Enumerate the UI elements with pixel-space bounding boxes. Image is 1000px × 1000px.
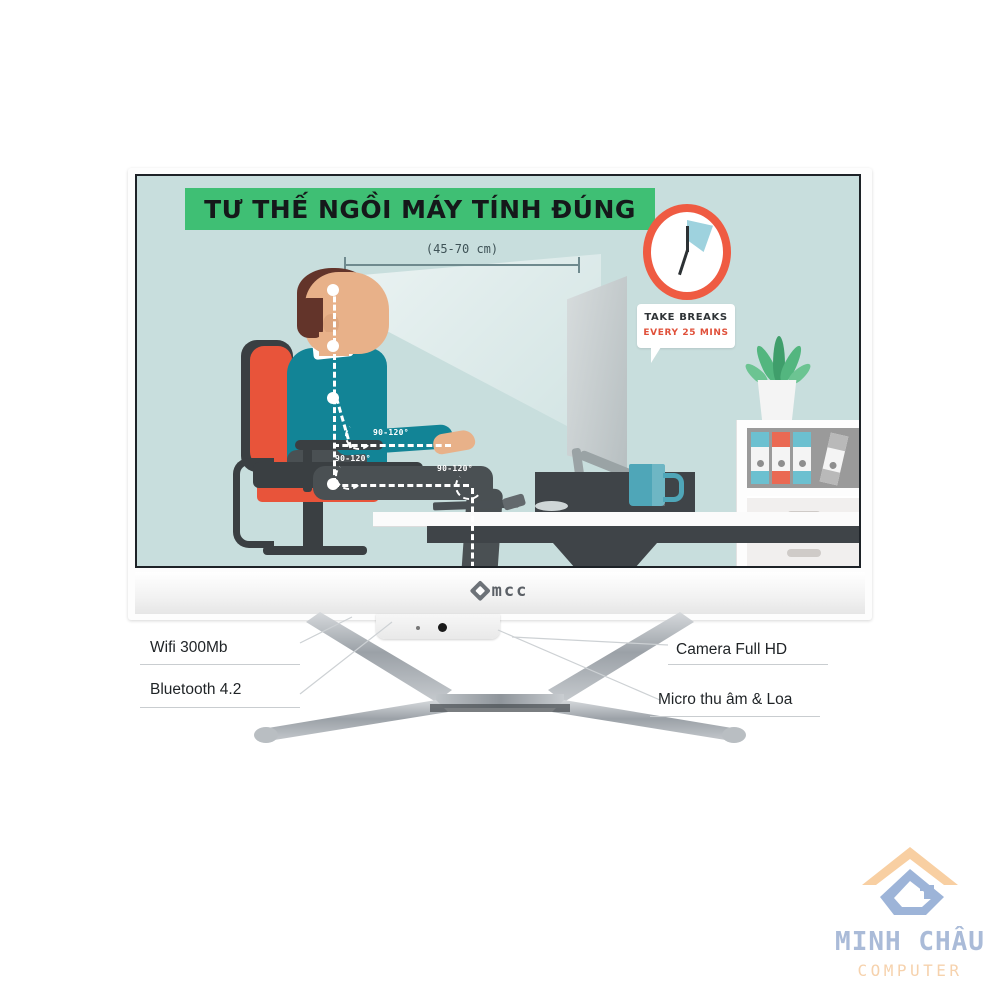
microphone-pinhole-icon: [416, 626, 420, 630]
poster-title: TƯ THẾ NGỒI MÁY TÍNH ĐÚNG: [204, 195, 636, 224]
product-image-canvas: TƯ THẾ NGỒI MÁY TÍNH ĐÚNG (45-70 cm) TAK…: [0, 0, 1000, 1000]
desk-leg: [579, 543, 631, 566]
viewing-distance-measure: (45-70 cm): [344, 244, 580, 270]
person-ear: [323, 314, 339, 334]
callout-bluetooth: Bluetooth 4.2: [150, 681, 241, 699]
clock-minute-hand: [678, 250, 689, 276]
callout-rule-camera: [668, 664, 828, 665]
brand-logo: mcc: [135, 581, 865, 601]
binder: [751, 432, 769, 484]
office-cabinet: [737, 420, 859, 566]
measure-cap-right: [578, 257, 580, 273]
watermark-subtitle: COMPUTER: [830, 961, 990, 980]
clock-hour-hand: [686, 226, 689, 252]
stand-crossbar: [436, 694, 564, 708]
chair-backrest-cushion: [250, 346, 292, 466]
measure-line: [344, 264, 580, 266]
drawer-pull: [787, 549, 821, 557]
watermark: MINH CHÂU COMPUTER: [830, 845, 990, 995]
callout-wifi: Wifi 300Mb: [150, 639, 228, 657]
poster-title-banner: TƯ THẾ NGỒI MÁY TÍNH ĐÚNG: [185, 188, 655, 230]
coffee-mug: [629, 464, 665, 506]
watermark-name: MINH CHÂU: [830, 927, 990, 957]
desk-top: [373, 512, 859, 526]
break-reminder-line2: EVERY 25 MINS: [637, 328, 735, 338]
stand-leg-upper-right: [548, 612, 694, 702]
angle-arc-knee: [455, 472, 483, 500]
callout-micro-loa: Micro thu âm & Loa: [658, 691, 792, 709]
posture-node-head: [327, 284, 339, 296]
angle-label-hip: 90-120°: [335, 454, 371, 463]
viewing-distance-label: (45-70 cm): [344, 242, 580, 256]
binder: [793, 432, 811, 484]
desk-monitor-screen: [567, 276, 627, 471]
chair-arm-post: [303, 448, 312, 492]
angle-arc-elbow: [345, 422, 373, 450]
posture-spine-line: [333, 354, 336, 484]
posture-head-line: [333, 288, 336, 344]
clock-wedge: [687, 220, 713, 252]
monitor-screen: TƯ THẾ NGỒI MÁY TÍNH ĐÚNG (45-70 cm) TAK…: [137, 176, 859, 566]
break-reminder-bubble: TAKE BREAKS EVERY 25 MINS: [637, 304, 735, 348]
angle-label-knee: 90-120°: [437, 464, 473, 473]
posture-node-neck: [327, 340, 339, 352]
leader-line-camera: [512, 637, 668, 645]
wall-clock-icon: [643, 204, 731, 300]
minh-chau-logo-icon: [858, 845, 962, 921]
leader-line-micro: [498, 630, 660, 700]
stand-foot-tip-left: [254, 727, 278, 743]
diamond-logo-icon: [469, 580, 490, 601]
callout-rule-micro: [650, 716, 820, 717]
desk-apron: [427, 526, 859, 543]
callout-rule-bluetooth: [140, 707, 300, 708]
leader-line-wifi: [300, 617, 352, 643]
all-in-one-computer: TƯ THẾ NGỒI MÁY TÍNH ĐÚNG (45-70 cm) TAK…: [128, 168, 872, 620]
binder-tilted: [820, 433, 849, 486]
camera-nub: [376, 614, 500, 639]
callout-rule-wifi: [140, 664, 300, 665]
bubble-tail: [651, 347, 661, 363]
chair-gas-post: [303, 502, 323, 550]
stand-shadow: [430, 704, 570, 712]
plant-pot: [755, 380, 799, 420]
monitor-chin: mcc: [135, 572, 865, 614]
cabinet-shelf: [747, 428, 859, 488]
angle-arc-hip: [335, 462, 363, 490]
chair-base: [263, 546, 367, 555]
camera-lens-icon: [438, 623, 447, 632]
brand-logo-text: mcc: [492, 581, 529, 601]
break-reminder-line1: TAKE BREAKS: [637, 312, 735, 323]
binder: [772, 432, 790, 484]
stand-foot-tip-right: [722, 727, 746, 743]
angle-label-elbow: 90-120°: [373, 428, 409, 437]
mouse: [535, 501, 568, 511]
callout-camera: Camera Full HD: [676, 641, 787, 659]
